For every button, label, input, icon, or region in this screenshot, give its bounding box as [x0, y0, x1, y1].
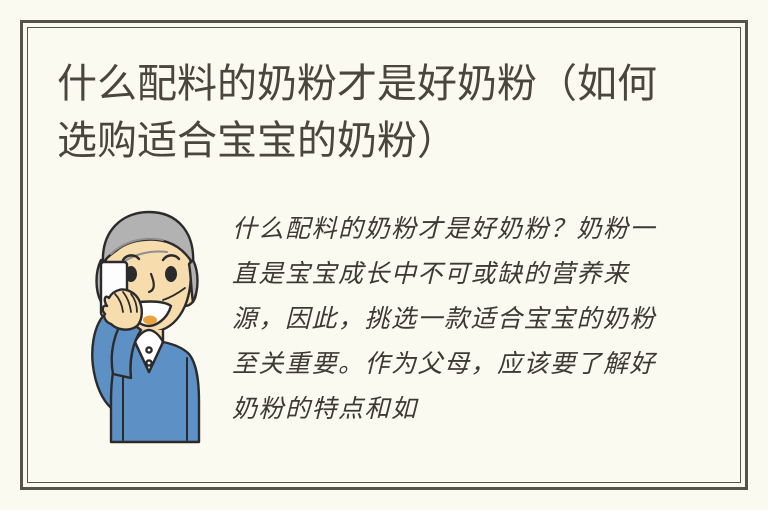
page-title: 什么配料的奶粉才是好奶粉（如何选购适合宝宝的奶粉）: [57, 56, 687, 170]
article-content: 什么配料的奶粉才是好奶粉？奶粉一直是宝宝成长中不可或缺的营养来源，因此，挑选一款…: [57, 196, 697, 458]
page-root: 什么配料的奶粉才是好奶粉（如何选购适合宝宝的奶粉）: [0, 0, 768, 510]
elderly-man-on-phone-illustration: [67, 202, 227, 452]
article-body-text: 什么配料的奶粉才是好奶粉？奶粉一直是宝宝成长中不可或缺的营养来源，因此，挑选一款…: [232, 206, 657, 456]
